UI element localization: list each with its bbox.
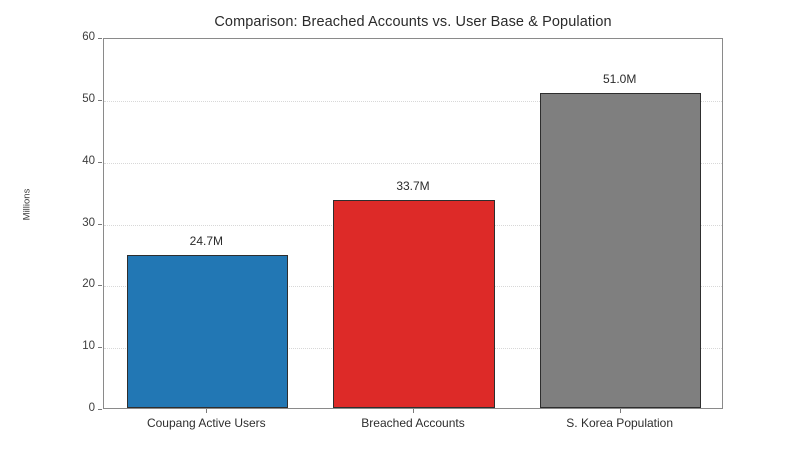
plot-area [103, 38, 723, 409]
y-tick-mark [98, 285, 102, 286]
bar-2[interactable] [333, 200, 494, 408]
figure-canvas: Comparison: Breached Accounts vs. User B… [0, 0, 800, 449]
y-tick-mark [98, 409, 102, 410]
x-tick-label: Coupang Active Users [106, 416, 306, 430]
y-tick-mark [98, 224, 102, 225]
bar-1[interactable] [127, 255, 288, 408]
x-tick-mark [413, 409, 414, 413]
bar-value-label: 24.7M [146, 234, 266, 248]
bar-3[interactable] [540, 93, 701, 408]
y-tick-label: 60 [55, 32, 95, 44]
bar-value-label: 33.7M [353, 179, 473, 193]
y-tick-label: 50 [55, 94, 95, 106]
y-tick-label: 10 [55, 341, 95, 353]
x-tick-label: Breached Accounts [313, 416, 513, 430]
y-tick-mark [98, 100, 102, 101]
y-tick-mark [98, 162, 102, 163]
chart-title: Comparison: Breached Accounts vs. User B… [103, 14, 723, 30]
y-tick-label: 0 [55, 403, 95, 415]
y-tick-label: 20 [55, 279, 95, 291]
bars-group [104, 39, 722, 408]
bar-value-label: 51.0M [560, 72, 680, 86]
y-axis-label: Millions [22, 165, 33, 245]
y-tick-label: 30 [55, 218, 95, 230]
y-tick-label: 40 [55, 156, 95, 168]
x-tick-mark [206, 409, 207, 413]
x-tick-label: S. Korea Population [520, 416, 720, 430]
x-tick-mark [620, 409, 621, 413]
y-tick-mark [98, 347, 102, 348]
y-tick-mark [98, 38, 102, 39]
